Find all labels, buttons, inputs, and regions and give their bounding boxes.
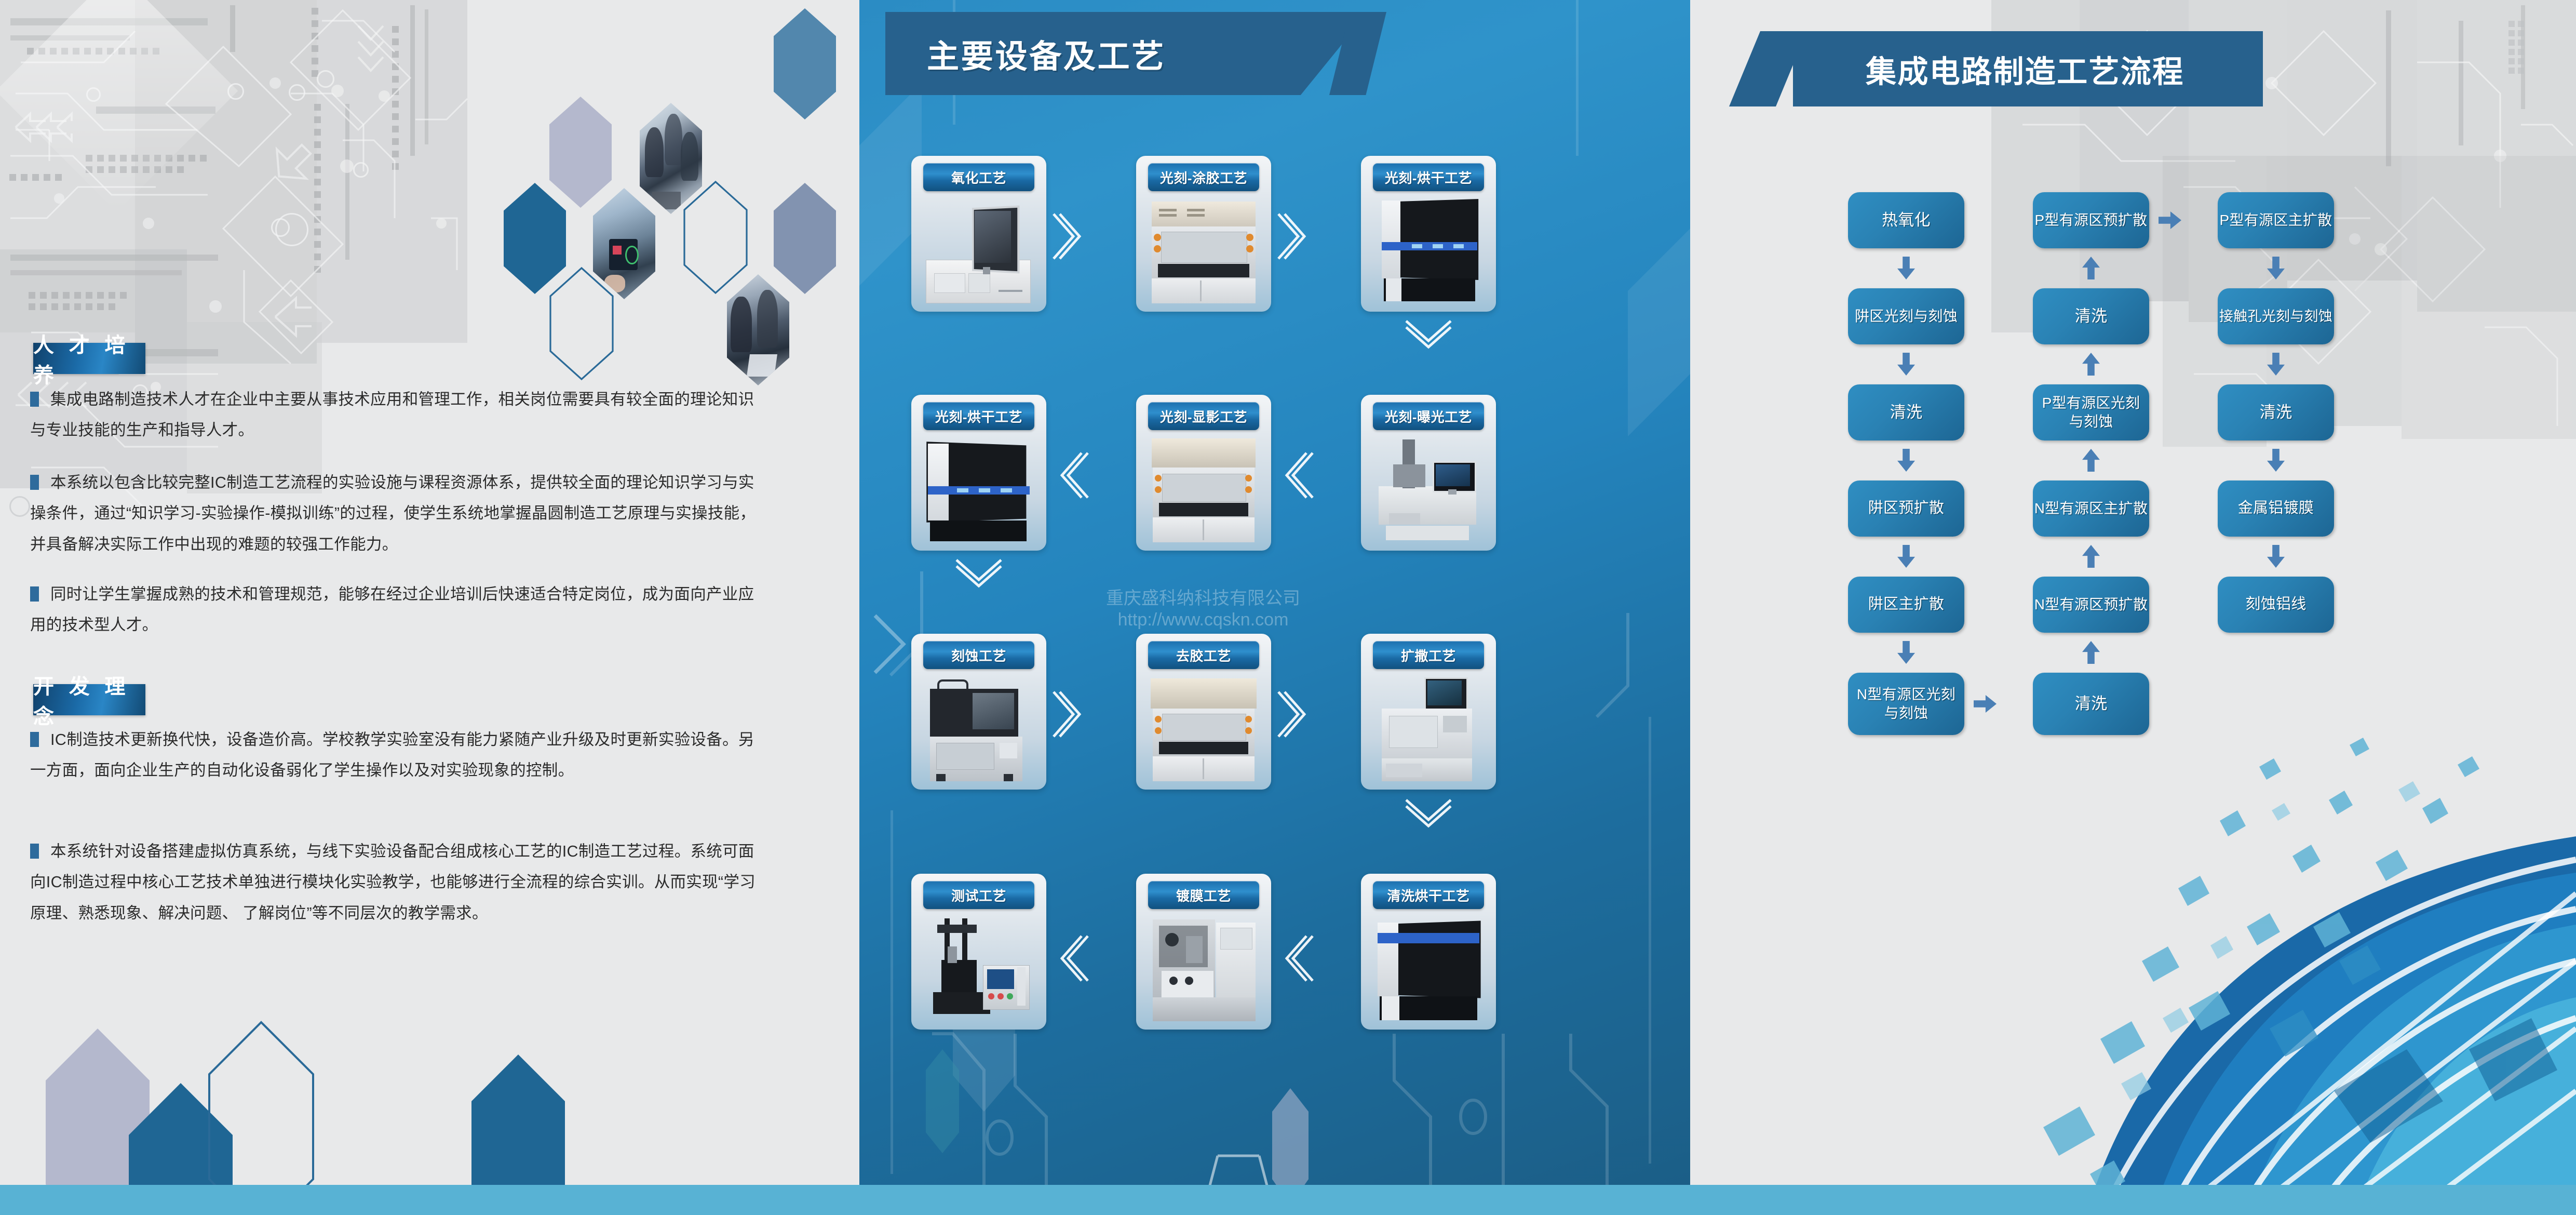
equipment-card-3[interactable]: 光刻-烘干工艺 (911, 395, 1046, 551)
equipment-photo-oxidation-furnace (921, 197, 1037, 304)
equipment-card-11[interactable]: 清洗烘干工艺 (1361, 874, 1496, 1030)
footer-bar (0, 1185, 2576, 1215)
flow-arrow-down-c1-3 (1897, 545, 1915, 568)
chevron-down-r2-r3 (950, 559, 1007, 595)
chevron-right-r3-2 (1277, 686, 1314, 743)
flow-box-c3-1[interactable]: 接触孔光刻与刻蚀 (2218, 288, 2334, 344)
chevron-left-r4-1 (1277, 930, 1314, 987)
hexagon-outline-bottom (549, 267, 614, 380)
flow-box-c1-0[interactable]: 热氧化 (1848, 192, 1964, 248)
equipment-card-7[interactable]: 去胶工艺 (1136, 634, 1271, 790)
flow-arrow-down-c1-0 (1897, 257, 1915, 279)
wave-decoration (2012, 717, 2576, 1187)
chevron-down-r3-r4 (1400, 799, 1457, 835)
right-panel-title-bar: 集成电路制造工艺流程 (1793, 31, 2263, 106)
paragraph-dev-2: 本系统针对设备搭建虚拟仿真系统，与线下实验设备配合组成核心工艺的IC制造工艺过程… (30, 836, 761, 929)
equipment-label-3: 光刻-烘干工艺 (923, 402, 1034, 430)
flow-box-c1-1[interactable]: 阱区光刻与刻蚀 (1848, 288, 1964, 344)
chevron-left-r2-1 (1277, 447, 1314, 504)
equipment-card-1[interactable]: 光刻-涂胶工艺 (1136, 156, 1271, 312)
equipment-label-1: 光刻-涂胶工艺 (1148, 163, 1259, 191)
equipment-photo-deposition-tool (1145, 915, 1262, 1022)
equipment-photo-bake-oven-2 (921, 436, 1037, 543)
equipment-label-5: 光刻-曝光工艺 (1373, 402, 1484, 430)
equipment-card-2[interactable]: 光刻-烘干工艺 (1361, 156, 1496, 312)
flow-box-c1-3[interactable]: 阱区预扩散 (1848, 480, 1964, 537)
flow-arrow-down-c1-1 (1897, 353, 1915, 376)
flow-box-c2-4[interactable]: N型有源区预扩散 (2033, 577, 2149, 633)
equipment-photo-strip-hood (1145, 675, 1262, 782)
hexagon-outline-right (683, 181, 748, 294)
equipment-photo-diffusion-furnace (1370, 675, 1487, 782)
flow-box-c2-3[interactable]: N型有源区主扩散 (2033, 480, 2149, 537)
chevron-right-r1-1 (1053, 208, 1089, 265)
equipment-label-8: 扩撒工艺 (1373, 641, 1484, 669)
poster-root: 人 才 培 养 开 发 理 念 集成电路制造技术人才在企业中主要从事技术应用和管… (0, 0, 2576, 1215)
flow-arrow-down-c3-3 (2267, 545, 2285, 568)
flow-box-c3-0[interactable]: P型有源区主扩散 (2218, 192, 2334, 248)
watermark: 重庆盛科纳科技有限公司 http://www.cqskn.com (1094, 588, 1312, 631)
paragraph-talent-1: 集成电路制造技术人才在企业中主要从事技术应用和管理工作，相关岗位需要具有较全面的… (30, 384, 761, 446)
equipment-label-4: 光刻-显影工艺 (1148, 402, 1259, 430)
equipment-card-0[interactable]: 氧化工艺 (911, 156, 1046, 312)
flow-box-c1-4[interactable]: 阱区主扩散 (1848, 577, 1964, 633)
equipment-label-2: 光刻-烘干工艺 (1373, 163, 1484, 191)
equipment-card-10[interactable]: 镀膜工艺 (1136, 874, 1271, 1030)
equipment-card-6[interactable]: 刻蚀工艺 (911, 634, 1046, 790)
hexagon-solid-lavender (549, 97, 612, 208)
equipment-card-8[interactable]: 扩撒工艺 (1361, 634, 1496, 790)
flow-arrow-down-c1-4 (1897, 641, 1915, 664)
equipment-label-10: 镀膜工艺 (1148, 881, 1259, 909)
paragraph-talent-3: 同时让学生掌握成熟的技术和管理规范，能够在经过企业培训后快速适合特定岗位，成为面… (30, 579, 761, 641)
flow-box-c2-0[interactable]: P型有源区预扩散 (2033, 192, 2149, 248)
flow-arrow-down-c3-2 (2267, 449, 2285, 472)
center-panel-title: 主要设备及工艺 (885, 12, 1368, 95)
bullet-square (30, 475, 39, 490)
flow-box-c3-4[interactable]: 刻蚀铝线 (2218, 577, 2334, 633)
equipment-card-5[interactable]: 光刻-曝光工艺 (1361, 395, 1496, 551)
flow-arrow-up-c2-3 (2082, 545, 2100, 568)
chevron-down-r1-r2 (1400, 320, 1457, 356)
equipment-photo-etch-tool (921, 675, 1037, 782)
hexagon-solid-blue-top (774, 8, 836, 119)
equipment-card-4[interactable]: 光刻-显影工艺 (1136, 395, 1271, 551)
hexagon-cluster (441, 0, 857, 374)
flow-box-c1-2[interactable]: 清洗 (1848, 384, 1964, 440)
watermark-company: 重庆盛科纳科技有限公司 (1094, 588, 1312, 609)
chevron-right-r1-2 (1277, 208, 1314, 265)
chevron-left-r4-2 (1053, 930, 1089, 987)
section-badge-dev-concept: 开 发 理 念 (33, 684, 145, 715)
equipment-photo-bake-oven (1370, 197, 1487, 304)
chevron-right-r3-1 (1053, 686, 1089, 743)
bullet-square (30, 586, 39, 602)
equipment-photo-develop-hood (1145, 436, 1262, 543)
flow-arrow-down-c1-2 (1897, 449, 1915, 472)
equipment-photo-clean-dry-bench (1370, 915, 1487, 1022)
equipment-label-0: 氧化工艺 (923, 163, 1034, 191)
paragraph-dev-1: IC制造技术更新换代快，设备造价高。学校教学实验室没有能力紧随产业升级及时更新实… (30, 725, 761, 786)
watermark-url: http://www.cqskn.com (1094, 609, 1312, 631)
flow-arrow-up-c2-4 (2082, 641, 2100, 664)
flow-box-c2-1[interactable]: 清洗 (2033, 288, 2149, 344)
equipment-photo-exposure-station (1370, 436, 1487, 543)
right-panel-title: 集成电路制造工艺流程 (1866, 47, 2184, 91)
flow-arrow-right-c1-to-c2 (1974, 695, 1997, 713)
center-panel: 主要设备及工艺 氧化工艺 光刻-涂胶工艺 (859, 0, 1690, 1215)
flow-arrow-up-c2-1 (2082, 353, 2100, 376)
hexagon-solid-steel (774, 183, 836, 294)
paragraph-talent-2: 本系统以包含比较完整IC制造工艺流程的实验设施与课程资源体系，提供较全面的理论知… (30, 468, 761, 560)
bullet-square (30, 392, 39, 407)
equipment-photo-probe-station (921, 915, 1037, 1022)
equipment-card-9[interactable]: 测试工艺 (911, 874, 1046, 1030)
chevron-left-r2-2 (1053, 447, 1089, 504)
bullet-square (30, 844, 39, 859)
flow-arrow-up-c2-2 (2082, 449, 2100, 472)
equipment-label-11: 清洗烘干工艺 (1373, 881, 1484, 909)
flow-box-c2-2[interactable]: P型有源区光刻 与刻蚀 (2033, 384, 2149, 440)
right-panel: 集成电路制造工艺流程 热氧化 阱区光刻与刻蚀 清洗 阱区预扩散 阱区主扩散 N型… (1690, 0, 2576, 1215)
equipment-photo-coating-hood (1145, 197, 1262, 304)
section-badge-talent-training: 人 才 培 养 (33, 343, 145, 374)
left-panel: 人 才 培 养 开 发 理 念 集成电路制造技术人才在企业中主要从事技术应用和管… (0, 0, 859, 1215)
flow-box-c3-3[interactable]: 金属铝镀膜 (2218, 480, 2334, 537)
flow-box-c1-5[interactable]: N型有源区光刻 与刻蚀 (1848, 673, 1964, 735)
equipment-label-9: 测试工艺 (923, 881, 1034, 909)
bullet-square (30, 732, 39, 747)
equipment-label-7: 去胶工艺 (1148, 641, 1259, 669)
equipment-label-6: 刻蚀工艺 (923, 641, 1034, 669)
flow-box-c3-2[interactable]: 清洗 (2218, 384, 2334, 440)
